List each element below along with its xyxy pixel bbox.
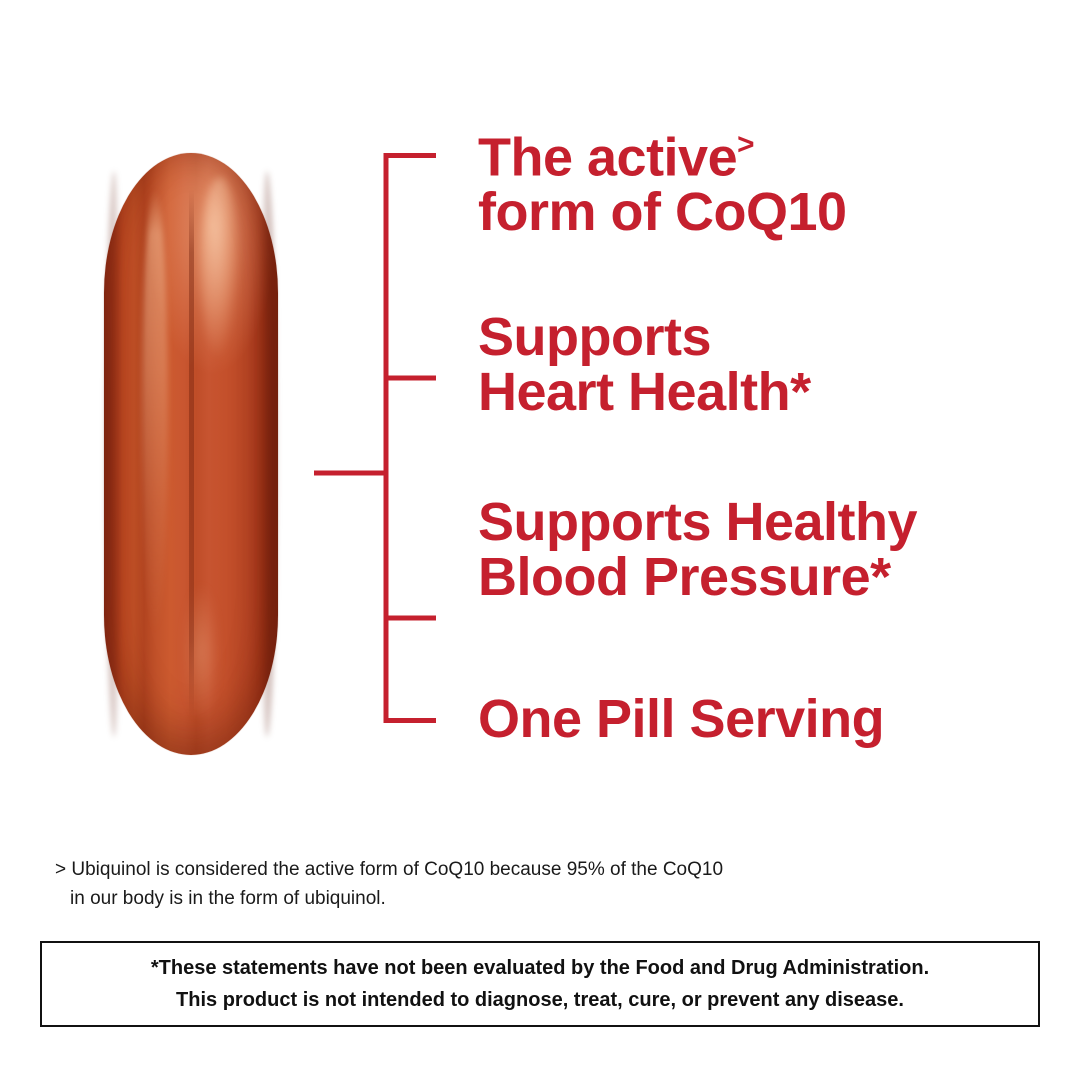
footnote: > Ubiquinol is considered the active for…: [55, 855, 1015, 914]
capsule-highlight-streak: [142, 189, 168, 634]
benefit-active-form: The active> form of CoQ10: [478, 130, 847, 241]
capsule-seam-line: [189, 189, 194, 719]
softgel-capsule-image: [100, 148, 282, 760]
benefit-one-pill-serving-line1: One Pill Serving: [478, 692, 884, 747]
benefit-bracket: [300, 140, 460, 740]
benefit-active-form-line1: The active>: [478, 130, 847, 185]
footnote-line-2: in our body is in the form of ubiquinol.: [55, 884, 1015, 913]
benefit-heart-health-line2: Heart Health*: [478, 365, 811, 420]
footnote-marker: >: [55, 859, 66, 880]
footnote-line-1: > Ubiquinol is considered the active for…: [55, 855, 1015, 884]
fda-disclaimer-line-2: This product is not intended to diagnose…: [176, 984, 904, 1016]
product-benefits-panel: The active> form of CoQ10 Supports Heart…: [0, 0, 1080, 1080]
footnote-reference-icon: >: [737, 128, 754, 161]
footnote-line-1-text: Ubiquinol is considered the active form …: [71, 859, 723, 880]
benefit-one-pill-serving: One Pill Serving: [478, 692, 884, 747]
benefit-blood-pressure-line2: Blood Pressure*: [478, 550, 917, 605]
capsule-top-highlight: [200, 177, 240, 358]
benefit-blood-pressure: Supports Healthy Blood Pressure*: [478, 495, 917, 605]
benefit-heart-health-line1: Supports: [478, 310, 811, 365]
benefit-blood-pressure-line1: Supports Healthy: [478, 495, 917, 550]
softgel-capsule-body: [104, 153, 278, 755]
capsule-right-shadow: [258, 171, 276, 737]
benefit-heart-health: Supports Heart Health*: [478, 310, 811, 420]
benefit-active-form-line2: form of CoQ10: [478, 185, 847, 240]
capsule-left-shadow: [106, 171, 122, 737]
fda-disclaimer-box: *These statements have not been evaluate…: [40, 941, 1040, 1027]
fda-disclaimer-line-1: *These statements have not been evaluate…: [151, 952, 929, 984]
